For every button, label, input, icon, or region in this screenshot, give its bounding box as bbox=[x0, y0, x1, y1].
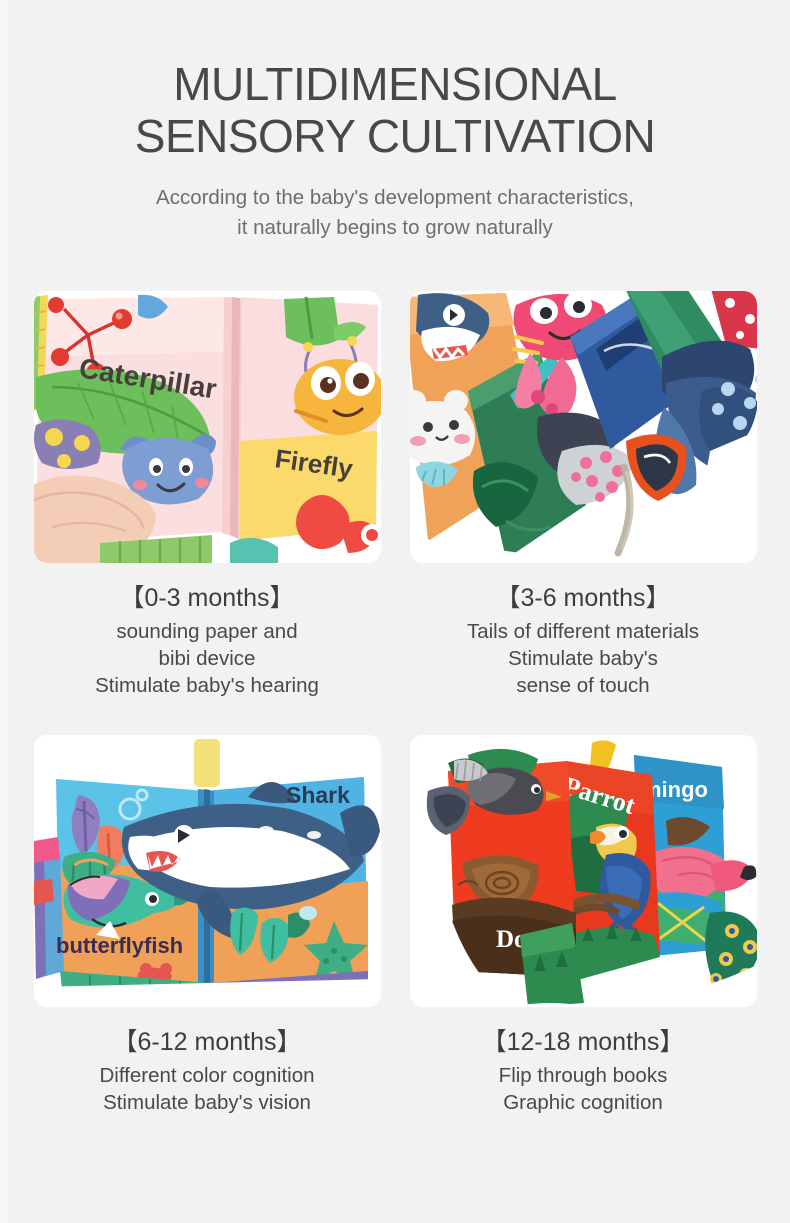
caption-0-3-months: 【0-3 months】 sounding paper and bibi dev… bbox=[95, 563, 319, 699]
photo-card-6-12-months[interactable]: Shark butterflyfish bbox=[34, 735, 381, 1007]
photo-card-3-6-months[interactable] bbox=[410, 291, 757, 563]
feature-cell-6-12-months: Shark butterflyfish 【6-12 months】 Differ… bbox=[34, 735, 381, 1116]
caption-3-6-months: 【3-6 months】 Tails of different material… bbox=[467, 563, 699, 699]
photo-label-shark: Shark bbox=[286, 782, 350, 808]
photo-label-butterflyfish: butterflyfish bbox=[56, 933, 183, 958]
feature-grid: Caterpillar Firefly 【0-3 months】 soundin… bbox=[0, 291, 790, 1116]
photo-card-12-18-months[interactable]: mingo bbox=[410, 735, 757, 1007]
feature-cell-0-3-months: Caterpillar Firefly 【0-3 months】 soundin… bbox=[34, 291, 381, 699]
feature-description: Tails of different materials Stimulate b… bbox=[467, 618, 699, 699]
feature-cell-12-18-months: mingo bbox=[410, 735, 757, 1116]
photo-stacked-books-fabric-tails bbox=[410, 291, 757, 563]
page-title: MULTIDIMENSIONAL SENSORY CULTIVATION bbox=[0, 58, 790, 162]
page-header: MULTIDIMENSIONAL SENSORY CULTIVATION Acc… bbox=[0, 0, 790, 243]
feature-cell-3-6-months: 【3-6 months】 Tails of different material… bbox=[410, 291, 757, 699]
photo-ocean-shark-cloth-book: Shark butterflyfish bbox=[34, 735, 381, 1007]
caption-6-12-months: 【6-12 months】 Different color cognition … bbox=[100, 1007, 315, 1116]
feature-description: Flip through books Graphic cognition bbox=[482, 1062, 685, 1116]
product-feature-page: MULTIDIMENSIONAL SENSORY CULTIVATION Acc… bbox=[0, 0, 790, 1223]
feature-description: Different color cognition Stimulate baby… bbox=[100, 1062, 315, 1116]
age-label: 【6-12 months】 bbox=[100, 1026, 315, 1058]
photo-caterpillar-firefly-cloth-book: Caterpillar Firefly bbox=[34, 291, 381, 563]
page-subtitle: According to the baby's development char… bbox=[0, 183, 790, 243]
photo-bird-cloth-book: mingo bbox=[410, 735, 757, 1007]
age-label: 【3-6 months】 bbox=[467, 582, 699, 614]
feature-description: sounding paper and bibi device Stimulate… bbox=[95, 618, 319, 699]
age-label: 【0-3 months】 bbox=[95, 582, 319, 614]
photo-card-0-3-months[interactable]: Caterpillar Firefly bbox=[34, 291, 381, 563]
age-label: 【12-18 months】 bbox=[482, 1026, 685, 1058]
caption-12-18-months: 【12-18 months】 Flip through books Graphi… bbox=[482, 1007, 685, 1116]
